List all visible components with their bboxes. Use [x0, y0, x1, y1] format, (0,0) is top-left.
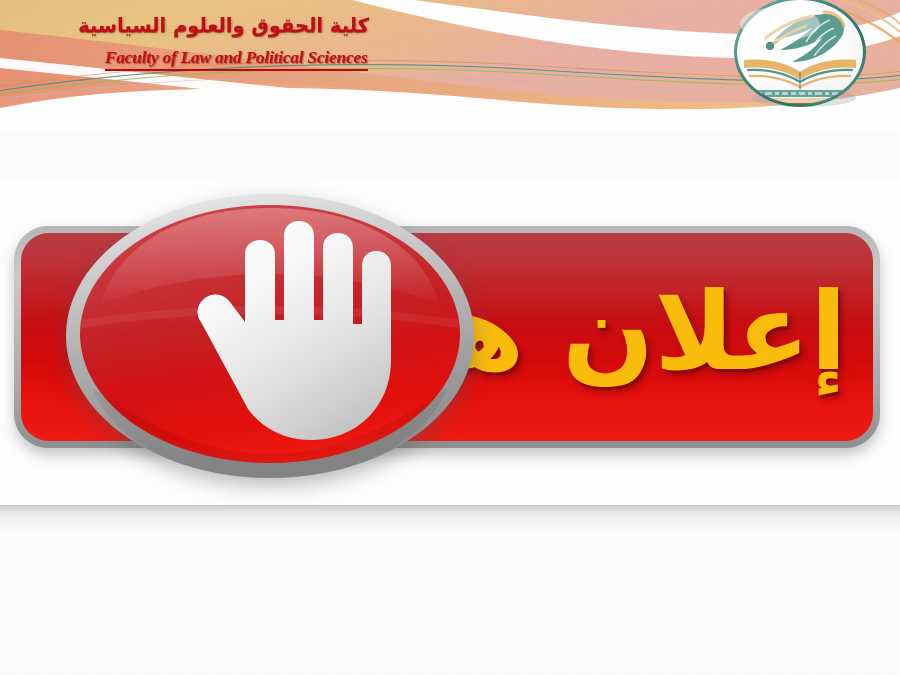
stop-hand-graphic [64, 192, 476, 480]
header-banner: كلية الحقوق والعلوم السياسية Faculty of … [0, 0, 900, 132]
faculty-name-english: Faculty of Law and Political Sciences [104, 48, 367, 71]
emblem-graphic [708, 0, 892, 114]
header-title-block: كلية الحقوق والعلوم السياسية Faculty of … [0, 14, 375, 71]
footer-area [0, 531, 900, 675]
faculty-logo [708, 0, 892, 114]
stop-hand-icon[interactable] [64, 192, 476, 480]
faculty-name-arabic: كلية الحقوق والعلوم السياسية [0, 14, 375, 38]
slide-root: كلية الحقوق والعلوم السياسية Faculty of … [0, 0, 900, 675]
emblem-gloss [740, 7, 820, 41]
emblem-dot [766, 42, 774, 50]
